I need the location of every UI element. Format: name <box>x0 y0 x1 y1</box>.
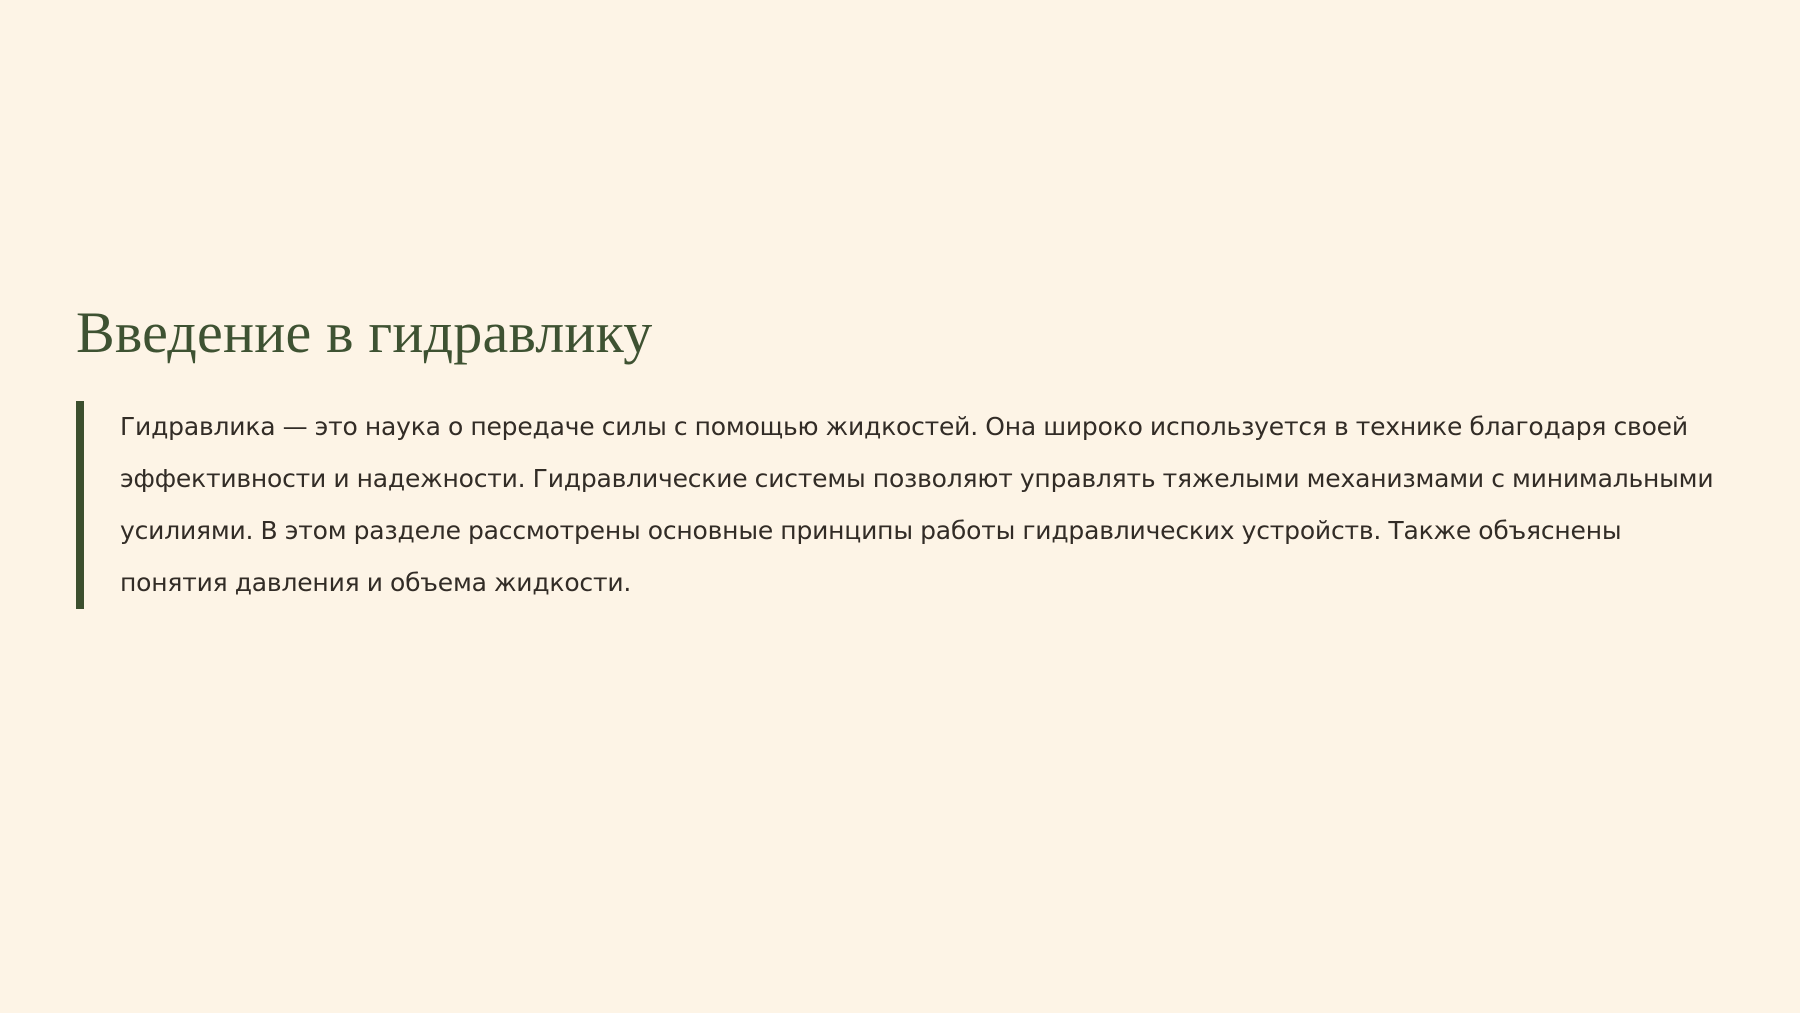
slide-canvas: Введение в гидравлику Гидравлика — это н… <box>0 0 1800 1013</box>
page-title: Введение в гидравлику <box>76 300 1736 367</box>
slide-content: Введение в гидравлику Гидравлика — это н… <box>76 300 1736 609</box>
body-paragraph: Гидравлика — это наука о передаче силы с… <box>120 401 1736 609</box>
quote-block: Гидравлика — это наука о передаче силы с… <box>76 401 1736 609</box>
